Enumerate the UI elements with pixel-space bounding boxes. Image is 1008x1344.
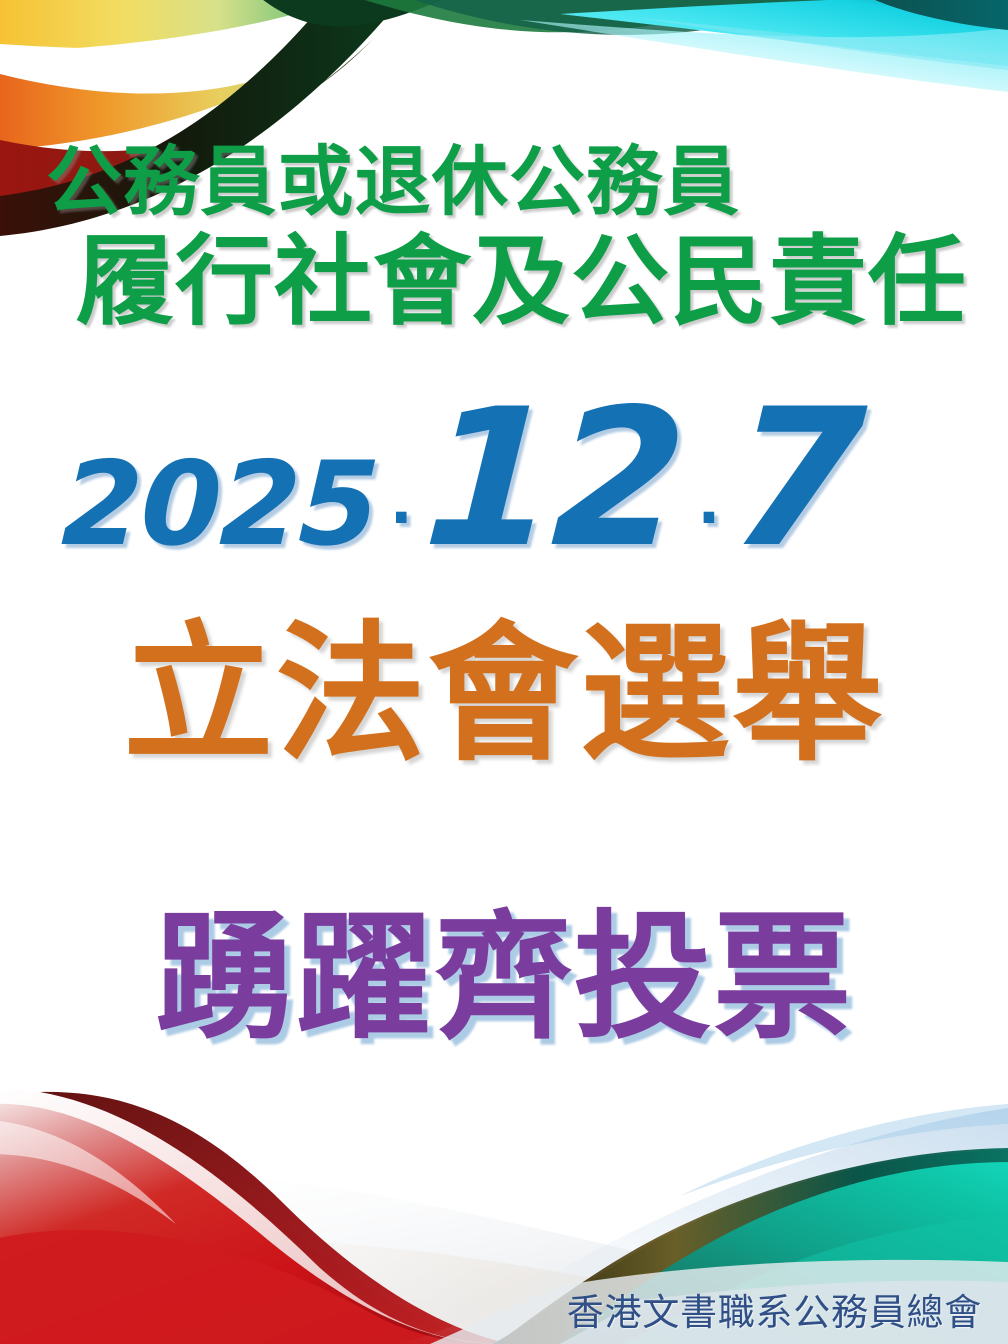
date-separator-1: · xyxy=(378,443,425,593)
date-day: 7 xyxy=(728,404,864,554)
poster-root: 公務員或退休公務員 履行社會及公民責任 2025 · 12 · 7 立法會選舉 … xyxy=(0,0,1008,1344)
headline-line-1: 公務員或退休公務員 xyxy=(46,140,740,224)
headline-line-2: 履行社會及公民責任 xyxy=(76,228,967,336)
date-separator-2: · xyxy=(686,443,733,593)
footer-organisation: 香港文書職系公務員總會 xyxy=(0,1290,1008,1336)
election-date: 2025 · 12 · 7 xyxy=(0,404,1008,599)
call-to-action: 踴躍齊投票 xyxy=(0,898,1008,1056)
poster-content: 公務員或退休公務員 履行社會及公民責任 2025 · 12 · 7 立法會選舉 … xyxy=(0,0,1008,1344)
event-title: 立法會選舉 xyxy=(0,608,1008,780)
date-year: 2025 xyxy=(59,430,380,580)
date-month: 12 xyxy=(421,404,690,554)
